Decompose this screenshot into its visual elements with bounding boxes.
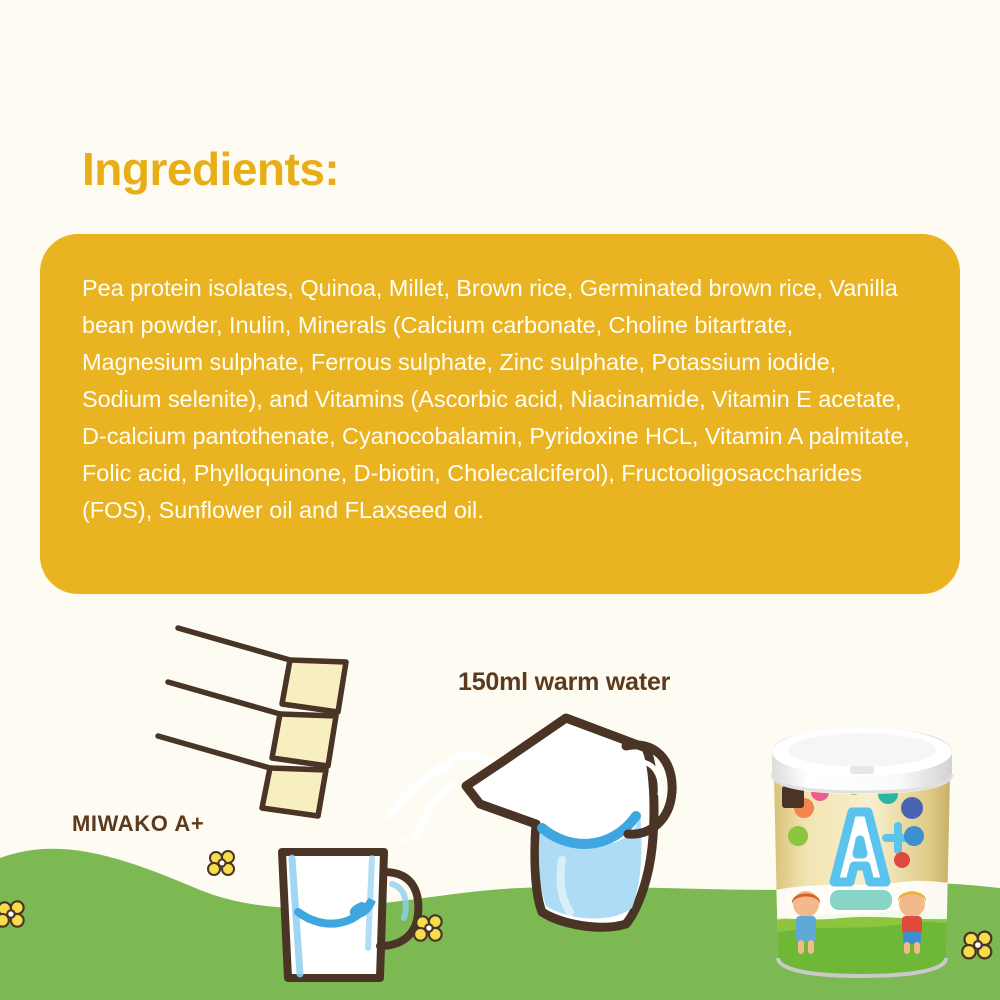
flower-icon — [960, 928, 998, 962]
ingredients-text: Pea protein isolates, Quinoa, Millet, Br… — [82, 270, 918, 529]
page-title: Ingredients: — [82, 146, 339, 192]
flower-icon — [0, 898, 30, 930]
mug-icon — [268, 838, 428, 988]
flower-icon — [206, 848, 240, 878]
water-pitcher-icon — [440, 700, 710, 940]
product-tin — [762, 718, 962, 980]
product-ingredients-infographic: Ingredients: Pea protein isolates, Quino… — [0, 0, 1000, 1000]
flower-icon — [412, 912, 448, 944]
scoop-label: MIWAKO A+ — [72, 811, 204, 837]
ingredients-panel: Pea protein isolates, Quinoa, Millet, Br… — [40, 234, 960, 594]
water-label: 150ml warm water — [458, 668, 670, 697]
measuring-scoops-icon — [150, 620, 390, 820]
